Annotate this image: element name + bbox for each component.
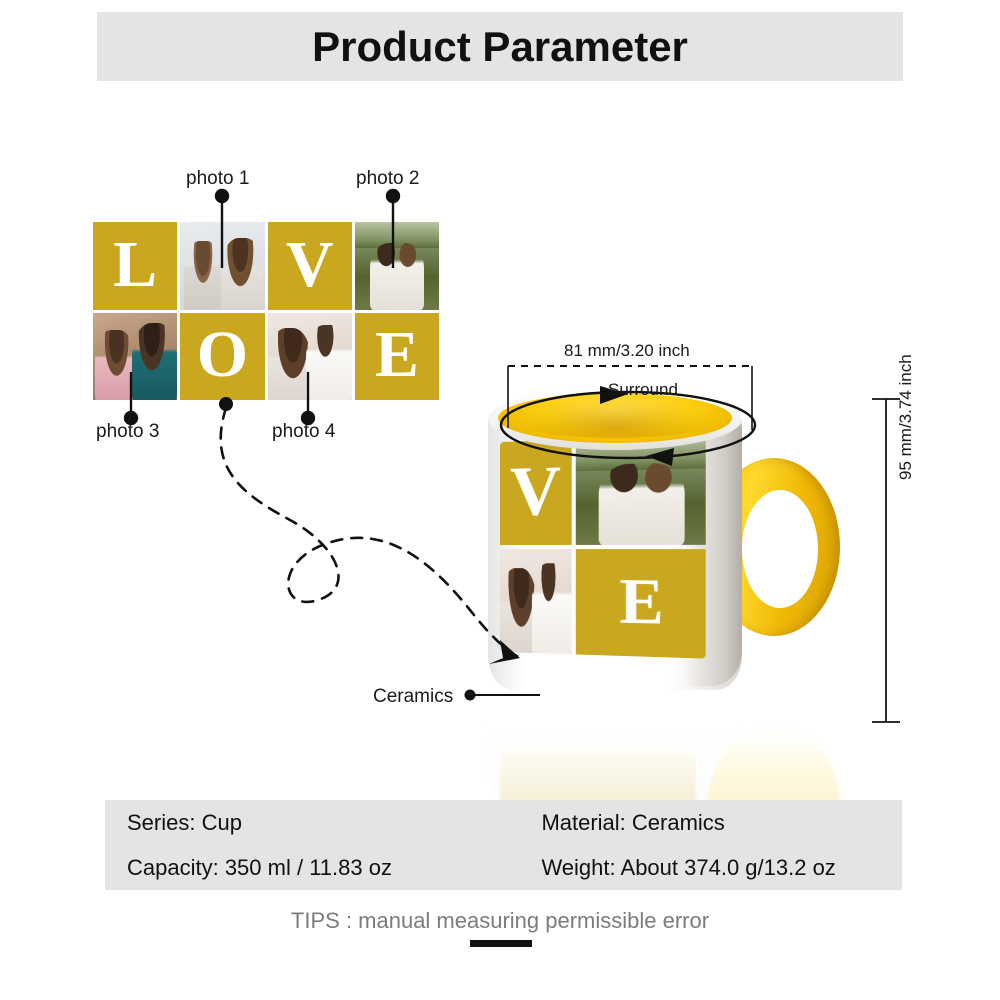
collage-letter-e: E bbox=[375, 322, 419, 388]
collage-tile-photo-1 bbox=[180, 222, 264, 310]
collage-tile-photo-2 bbox=[355, 222, 439, 310]
collage-tile-photo-3 bbox=[93, 313, 177, 401]
mug-tile-letter-v: V bbox=[500, 440, 571, 545]
mug-interior-shading bbox=[510, 400, 720, 438]
mug-illustration: V E bbox=[470, 380, 870, 720]
collage-tile-letter-o: O bbox=[180, 313, 264, 401]
label-photo-4: photo 4 bbox=[272, 421, 335, 443]
collage-tile-photo-4 bbox=[268, 313, 352, 401]
page-title: Product Parameter bbox=[97, 12, 903, 81]
label-photo-2: photo 2 bbox=[356, 168, 419, 190]
collage-tile-letter-e: E bbox=[355, 313, 439, 401]
mug-reflection bbox=[470, 714, 870, 806]
label-mug-width: 81 mm/3.20 inch bbox=[564, 341, 690, 361]
leader-dot-photo-1 bbox=[216, 190, 228, 202]
mug-photo-4-image bbox=[500, 549, 571, 654]
photo-1-image bbox=[180, 222, 264, 310]
mug-handle-hole bbox=[742, 490, 818, 608]
product-parameter-page: Product Parameter L V O E photo 1 photo … bbox=[0, 0, 1000, 1000]
mug-letter-v: V bbox=[510, 456, 561, 528]
mug-tile-photo-4 bbox=[500, 549, 571, 654]
collage-tile-letter-v: V bbox=[268, 222, 352, 310]
photo-2-image bbox=[355, 222, 439, 310]
spec-table: Series: Cup Material: Ceramics Capacity:… bbox=[105, 800, 902, 890]
spec-material: Material: Ceramics bbox=[519, 810, 902, 836]
photo-4-image bbox=[268, 313, 352, 401]
collage-letter-o: O bbox=[197, 322, 248, 388]
label-mug-height: 95 mm/3.74 inch bbox=[896, 354, 916, 480]
collage-letter-l: L bbox=[113, 232, 157, 298]
leader-dot-photo-2 bbox=[387, 190, 399, 202]
label-photo-1: photo 1 bbox=[186, 168, 249, 190]
spec-weight: Weight: About 374.0 g/13.2 oz bbox=[519, 855, 902, 881]
label-surround: Surround bbox=[608, 380, 678, 400]
tips-note: TIPS : manual measuring permissible erro… bbox=[0, 908, 1000, 934]
love-photo-collage: L V O E bbox=[93, 222, 439, 400]
mug-photo-2-image bbox=[575, 435, 705, 545]
mug-letter-e: E bbox=[619, 569, 663, 634]
collage-letter-v: V bbox=[286, 232, 334, 298]
photo-3-image bbox=[93, 313, 177, 401]
mug-tile-letter-e: E bbox=[575, 549, 705, 659]
label-ceramics: Ceramics bbox=[373, 686, 453, 708]
mug-printed-artwork: V E bbox=[500, 435, 706, 658]
mug-tile-photo-2 bbox=[575, 435, 705, 545]
bottom-accent-bar bbox=[470, 940, 532, 947]
spec-series: Series: Cup bbox=[105, 810, 519, 836]
reflection-handle bbox=[708, 722, 840, 806]
collage-tile-letter-l: L bbox=[93, 222, 177, 310]
reflection-body bbox=[488, 720, 742, 806]
spec-capacity: Capacity: 350 ml / 11.83 oz bbox=[105, 855, 519, 881]
label-photo-3: photo 3 bbox=[96, 421, 159, 443]
reflection-art bbox=[500, 742, 696, 806]
